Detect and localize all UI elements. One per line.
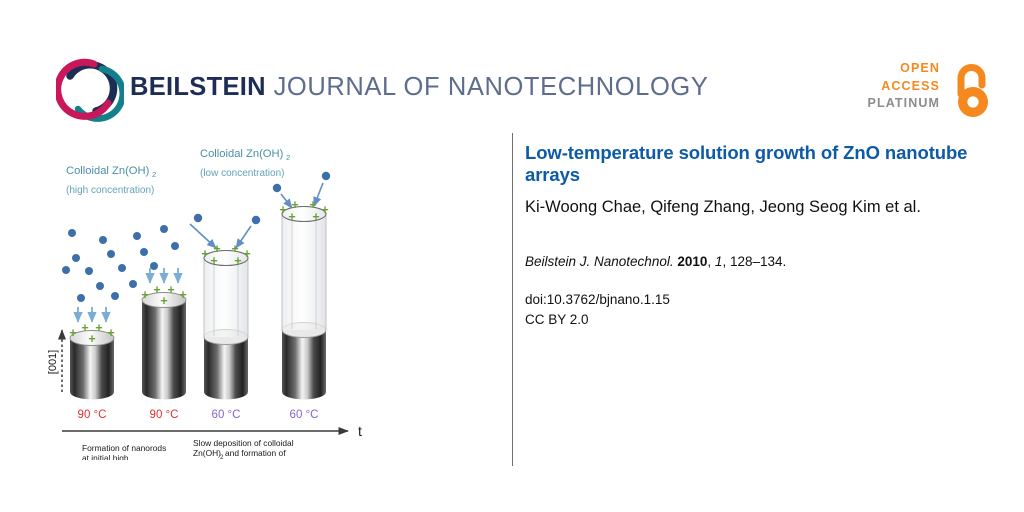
axis-label-time: t (358, 423, 362, 439)
colloid-high-subscript: 2 (152, 170, 156, 179)
figure-label-colloid-low: Colloidal Zn(OH) 2 (low concentration) (200, 148, 290, 179)
citation-journal: Beilstein J. Nanotechnol. (525, 254, 674, 269)
figure-caption-left: Formation of nanorods at initial high te… (82, 443, 166, 460)
graphical-abstract-figure: Colloidal Zn(OH) 2 (high concentration) … (48, 140, 388, 460)
open-padlock-icon (950, 61, 996, 119)
oa-line-open: OPEN (868, 60, 940, 78)
citation-pages: 128–134. (730, 254, 786, 269)
temperature-label-1: 90 °C (78, 409, 107, 421)
svg-text:+: + (167, 283, 174, 297)
temperature-label-4: 60 °C (290, 409, 319, 421)
article-metadata: Low-temperature solution growth of ZnO n… (525, 142, 977, 329)
citation-year: 2010 (677, 254, 707, 269)
temperature-label-3: 60 °C (212, 409, 241, 421)
colloid-dot-cloud-left (62, 225, 179, 302)
colloid-high-title: Colloidal Zn(OH) (66, 165, 150, 177)
article-title: Low-temperature solution growth of ZnO n… (525, 142, 977, 186)
caption-left-line-1: Formation of nanorods (82, 443, 166, 453)
oa-line-access: ACCESS (868, 78, 940, 96)
deposition-arrows-rod-2 (150, 268, 178, 283)
oa-line-platinum: PLATINUM (868, 95, 940, 113)
svg-text:+: + (210, 254, 217, 268)
svg-text:+: + (88, 332, 95, 346)
figure-caption-right: Slow deposition of colloidal Zn(OH) 2 an… (193, 438, 312, 460)
colloid-high-note: (high concentration) (66, 185, 154, 196)
journal-wordmark: BEILSTEIN JOURNAL OF NANOTECHNOLOGY (130, 73, 708, 102)
masthead: BEILSTEIN JOURNAL OF NANOTECHNOLOGY OPEN… (0, 0, 1024, 132)
svg-text:+: + (160, 294, 167, 308)
colloid-low-title: Colloidal Zn(OH) (200, 148, 284, 160)
nanorod-stage-2: + + + + + (141, 283, 186, 400)
svg-text:+: + (279, 203, 286, 217)
axis-label-001: [001] (48, 350, 59, 374)
open-access-text: OPEN ACCESS PLATINUM (868, 60, 940, 113)
svg-text:+: + (179, 288, 186, 302)
figure-label-colloid-high: Colloidal Zn(OH) 2 (high concentration) (66, 165, 156, 196)
svg-text:+: + (107, 326, 114, 340)
article-authors: Ki-Woong Chae, Qifeng Zhang, Jeong Seog … (525, 195, 977, 220)
axis-growth-direction: [001] (48, 330, 62, 392)
temperature-labels: 90 °C 90 °C 60 °C 60 °C (78, 409, 319, 421)
colloid-dots-tube-3 (194, 214, 260, 224)
article-citation: Beilstein J. Nanotechnol. 2010, 1, 128–1… (525, 252, 977, 271)
nanotube-stage-3: + + + + + + (201, 242, 250, 399)
wordmark-light: JOURNAL OF NANOTECHNOLOGY (266, 73, 709, 101)
article-doi: doi:10.3762/bjnano.1.15 (525, 290, 977, 310)
svg-text:+: + (95, 321, 102, 335)
caption-right-line-3: and formation of (225, 448, 286, 458)
svg-text:+: + (243, 247, 250, 261)
svg-text:+: + (321, 203, 328, 217)
svg-text:+: + (69, 326, 76, 340)
nanotube-stage-4: + + + + + + (279, 198, 328, 400)
caption-right-line-4: nanotubes at lower temperature (193, 458, 312, 460)
axis-time: t (62, 423, 362, 439)
beilstein-circle-logo (56, 56, 124, 124)
column-divider (512, 133, 513, 466)
svg-text:+: + (234, 254, 241, 268)
colloid-low-subscript: 2 (286, 153, 290, 162)
caption-left-line-2: at initial high (82, 453, 129, 460)
article-license: CC BY 2.0 (525, 310, 977, 330)
citation-sep-1: , (707, 254, 715, 269)
nanorod-stage-1: + + + + + (69, 321, 114, 400)
temperature-label-2: 90 °C (150, 409, 179, 421)
citation-sep-2: , (722, 254, 730, 269)
svg-text:+: + (201, 247, 208, 261)
svg-text:+: + (141, 288, 148, 302)
deposition-arrows-rod-1 (78, 307, 106, 322)
colloid-arrows-tube-4 (281, 183, 323, 208)
caption-right-line-1: Slow deposition of colloidal (193, 438, 294, 448)
open-access-badge: OPEN ACCESS PLATINUM (868, 60, 996, 122)
wordmark-bold: BEILSTEIN (130, 73, 266, 101)
svg-text:+: + (312, 210, 319, 224)
svg-text:+: + (288, 210, 295, 224)
colloid-low-note: (low concentration) (200, 168, 284, 179)
caption-right-line-2: Zn(OH) (193, 448, 221, 458)
